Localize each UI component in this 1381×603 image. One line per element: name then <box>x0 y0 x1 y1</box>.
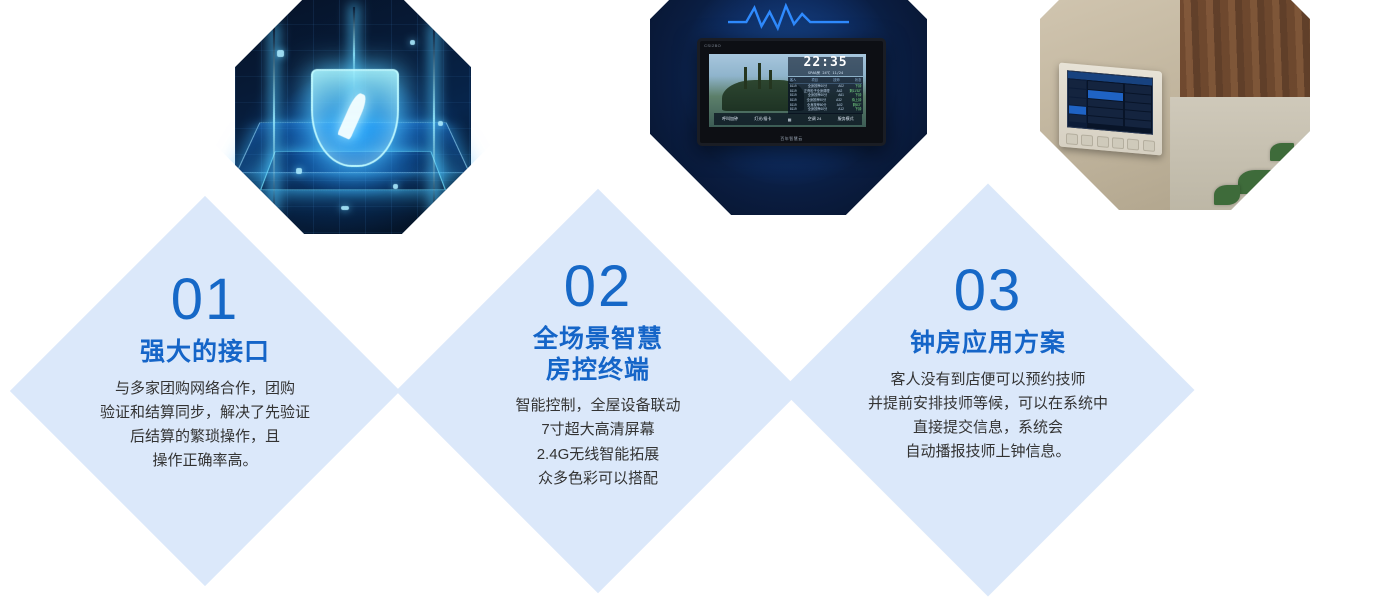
panel-key-active[interactable] <box>1069 105 1086 114</box>
grid-icon: ▦ <box>788 117 792 122</box>
panel-list-item[interactable] <box>1125 119 1152 129</box>
card-02[interactable]: 02 全场景智慧 房控终端 智能控制，全屋设备联动 7寸超大高清屏幕 2.4G无… <box>396 189 800 593</box>
card-number: 03 <box>954 262 1023 320</box>
plant-leaf <box>1214 185 1240 205</box>
panel-key[interactable] <box>1069 97 1086 106</box>
panel-key[interactable] <box>1069 80 1086 89</box>
tablet-bottom-bar: 呼叫加钟 灯光/插卡 ▦ 空调 24 服务模式 <box>714 113 862 125</box>
clock-widget: 22:35 SPA6房 24℃ 11/24 <box>788 57 863 76</box>
card-number: 01 <box>171 271 240 329</box>
btn-light: 灯光/插卡 <box>754 116 771 122</box>
panel-body <box>1068 79 1152 134</box>
panel-key[interactable] <box>1069 88 1086 97</box>
card-number: 02 <box>564 258 633 316</box>
card-title: 强大的接口 <box>140 337 270 368</box>
panel-button[interactable] <box>1143 139 1155 151</box>
panel-key[interactable] <box>1069 114 1086 123</box>
clock-meta: SPA6房 24℃ 11/24 <box>808 71 843 76</box>
panel-button[interactable] <box>1066 133 1078 145</box>
guest-table: 客人 项目 技师 状态 8119 全身按摩60分 A02 下钟 <box>788 77 863 113</box>
cell-guest: 8119 <box>790 107 797 112</box>
col-item: 项目 <box>812 78 818 83</box>
circuit-node <box>277 50 284 57</box>
cell-item: 全身按摩60分 <box>808 107 827 112</box>
card-description: 与多家团购网络合作，团购 验证和结算同步，解决了先验证 后结算的繁琐操作，且 操… <box>100 377 310 474</box>
scenery-tree <box>744 67 747 89</box>
scenery-tree <box>758 63 761 89</box>
panel-button[interactable] <box>1112 137 1124 149</box>
panel-screen <box>1067 70 1153 135</box>
col-guest: 客人 <box>790 78 796 83</box>
btn-service: 服务模式 <box>838 116 854 122</box>
col-tech: 技师 <box>833 78 839 83</box>
panel-mid-list[interactable] <box>1087 80 1124 131</box>
tablet-logo: 百年智慧云 <box>700 136 883 142</box>
clock-time: 22:35 <box>804 56 848 69</box>
panel-right-list[interactable] <box>1124 83 1153 133</box>
tablet-art: CSI2BO 22:35 SPA6房 24℃ 11/24 客人 <box>650 0 927 215</box>
btn-call: 呼叫加钟 <box>722 116 738 122</box>
card-title: 钟房应用方案 <box>910 328 1066 359</box>
infographic-stage: CSI2BO 22:35 SPA6房 24℃ 11/24 客人 <box>0 0 1381 603</box>
card-description: 客人没有到店便可以预约技师 并提前安排技师等候，可以在系统中 直接提交信息，系统… <box>868 368 1108 465</box>
circuit-node <box>341 206 349 210</box>
tablet-screen: 22:35 SPA6房 24℃ 11/24 客人 项目 技师 状态 <box>709 54 866 127</box>
beam-left <box>273 26 275 210</box>
panel-left-keys[interactable] <box>1068 79 1087 128</box>
cell-tech: A12 <box>838 107 844 112</box>
card-title: 全场景智慧 房控终端 <box>533 324 663 385</box>
cell-status: 下钟 <box>855 107 861 112</box>
tablet-brand-label: CSI2BO <box>704 43 721 48</box>
circuit-node <box>438 121 443 126</box>
plant-leaf <box>1238 170 1272 194</box>
panel-button[interactable] <box>1097 135 1109 147</box>
card-03[interactable]: 03 钟房应用方案 客人没有到店便可以预约技师 并提前安排技师等候，可以在系统中… <box>782 184 1195 597</box>
plant-leaf <box>1270 143 1294 161</box>
card-01[interactable]: 01 强大的接口 与多家团购网络合作，团购 验证和结算同步，解决了先验证 后结算… <box>10 196 400 586</box>
circuit-shield-art <box>235 0 471 234</box>
circuit-node <box>410 40 415 45</box>
spa-room-art <box>1040 0 1310 210</box>
col-status: 状态 <box>855 78 861 83</box>
card-description: 智能控制，全屋设备联动 7寸超大高清屏幕 2.4G无线智能拓展 众多色彩可以搭配 <box>515 394 680 491</box>
beam-right <box>433 26 435 210</box>
btn-ac: 空调 24 <box>808 116 822 122</box>
pulse-wave-icon <box>728 0 850 35</box>
panel-button[interactable] <box>1127 138 1139 150</box>
panel-button[interactable] <box>1081 134 1093 146</box>
tablet-device: CSI2BO 22:35 SPA6房 24℃ 11/24 客人 <box>697 38 886 146</box>
image-spa-wall-panel <box>984 0 1366 266</box>
image-smart-room-tablet: CSI2BO 22:35 SPA6房 24℃ 11/24 客人 <box>593 0 985 272</box>
scenery-tree <box>769 70 772 89</box>
wall-control-panel[interactable] <box>1059 62 1162 155</box>
table-row: 8119 全身按摩60分 A12 下钟 <box>789 107 862 112</box>
circuit-node <box>296 168 302 174</box>
